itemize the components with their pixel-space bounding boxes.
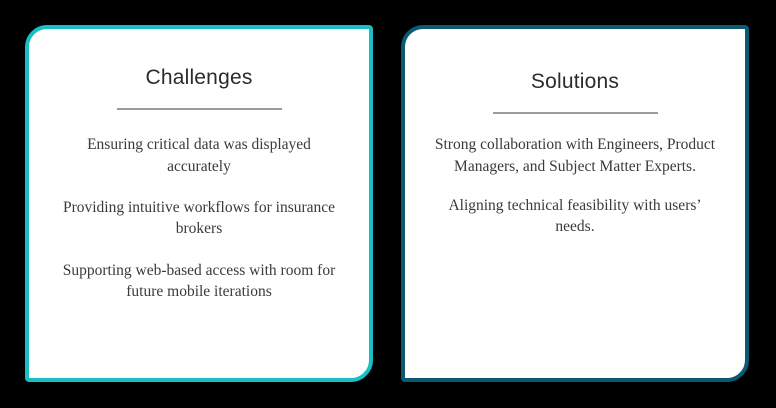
solutions-divider-wrap bbox=[423, 112, 727, 114]
challenges-card-title: Challenges bbox=[47, 45, 351, 90]
solutions-card: Solutions Strong collaboration with Engi… bbox=[401, 25, 749, 382]
solutions-list-item: Strong collaboration with Engineers, Pro… bbox=[423, 134, 727, 177]
challenges-list-item: Ensuring critical data was displayed acc… bbox=[47, 134, 351, 177]
solutions-divider bbox=[493, 112, 658, 114]
challenges-list-item: Providing intuitive workflows for insura… bbox=[47, 197, 351, 240]
challenges-item-list: Ensuring critical data was displayed acc… bbox=[47, 134, 351, 302]
solutions-item-list: Strong collaboration with Engineers, Pro… bbox=[423, 134, 727, 238]
challenges-divider bbox=[117, 108, 282, 110]
solutions-card-title: Solutions bbox=[423, 45, 727, 94]
slide-canvas: Challenges Ensuring critical data was di… bbox=[0, 0, 776, 408]
solutions-list-item: Aligning technical feasibility with user… bbox=[423, 195, 727, 238]
challenges-divider-wrap bbox=[47, 108, 351, 110]
challenges-list-item: Supporting web-based access with room fo… bbox=[47, 260, 351, 303]
challenges-card-content: Challenges Ensuring critical data was di… bbox=[29, 29, 369, 302]
challenges-card: Challenges Ensuring critical data was di… bbox=[25, 25, 373, 382]
solutions-card-content: Solutions Strong collaboration with Engi… bbox=[405, 29, 745, 238]
